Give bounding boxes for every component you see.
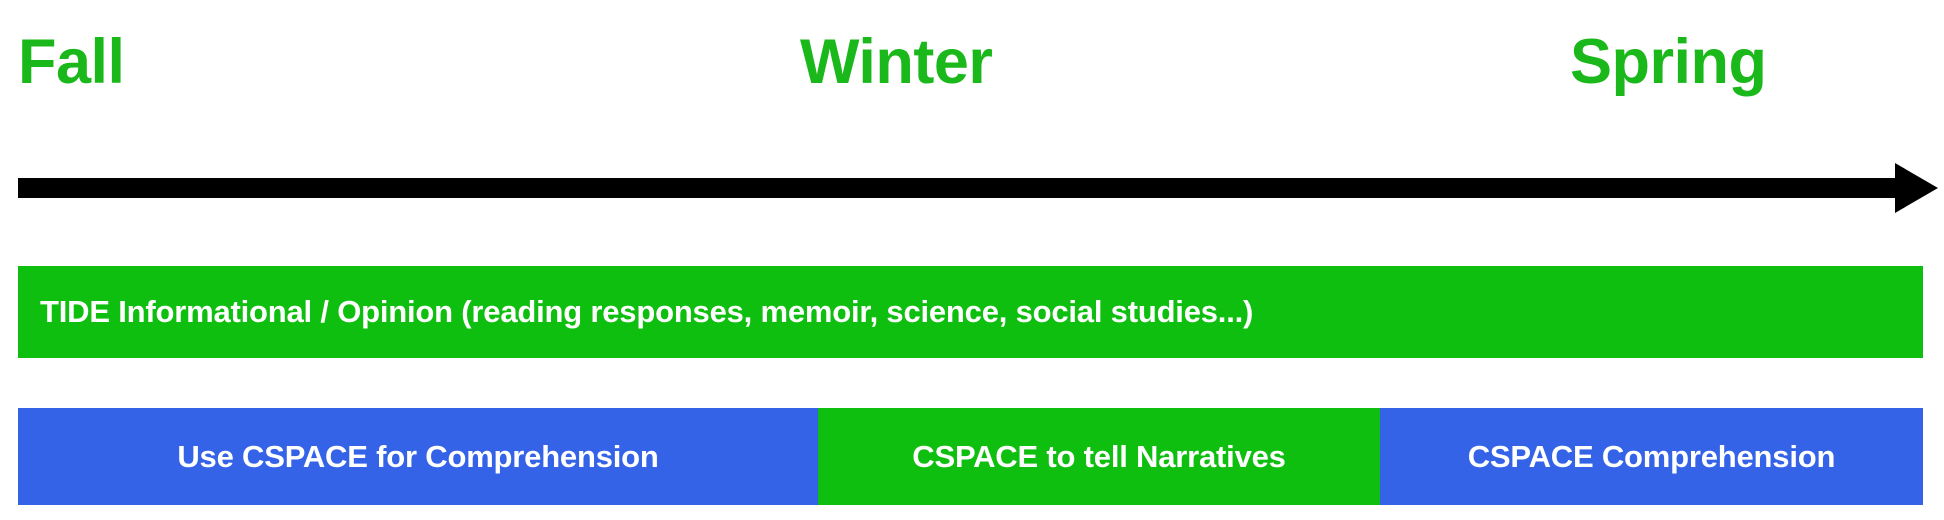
season-heading-row: Fall Winter Spring [0, 0, 1944, 118]
season-label-spring: Spring [1570, 31, 1767, 94]
tide-informational-opinion-bar: TIDE Informational / Opinion (reading re… [18, 266, 1923, 358]
cspace-segment-3-label: CSPACE Comprehension [1468, 440, 1835, 474]
cspace-segment-comprehension: Use CSPACE for Comprehension [18, 408, 818, 505]
season-label-fall: Fall [18, 31, 125, 94]
rightward-arrow-icon [16, 160, 1940, 216]
season-label-winter: Winter [800, 31, 992, 94]
cspace-bar-row: Use CSPACE for Comprehension CSPACE to t… [18, 408, 1923, 505]
cspace-segment-2-label: CSPACE to tell Narratives [912, 440, 1285, 474]
tide-bar-label: TIDE Informational / Opinion (reading re… [40, 295, 1253, 329]
cspace-segment-1-label: Use CSPACE for Comprehension [177, 440, 658, 474]
timeline-diagram: Fall Winter Spring TIDE Informational / … [0, 0, 1944, 520]
timeline-arrow [16, 160, 1940, 216]
cspace-segment-narratives: CSPACE to tell Narratives [818, 408, 1380, 505]
cspace-segment-comprehension-spring: CSPACE Comprehension [1380, 408, 1923, 505]
